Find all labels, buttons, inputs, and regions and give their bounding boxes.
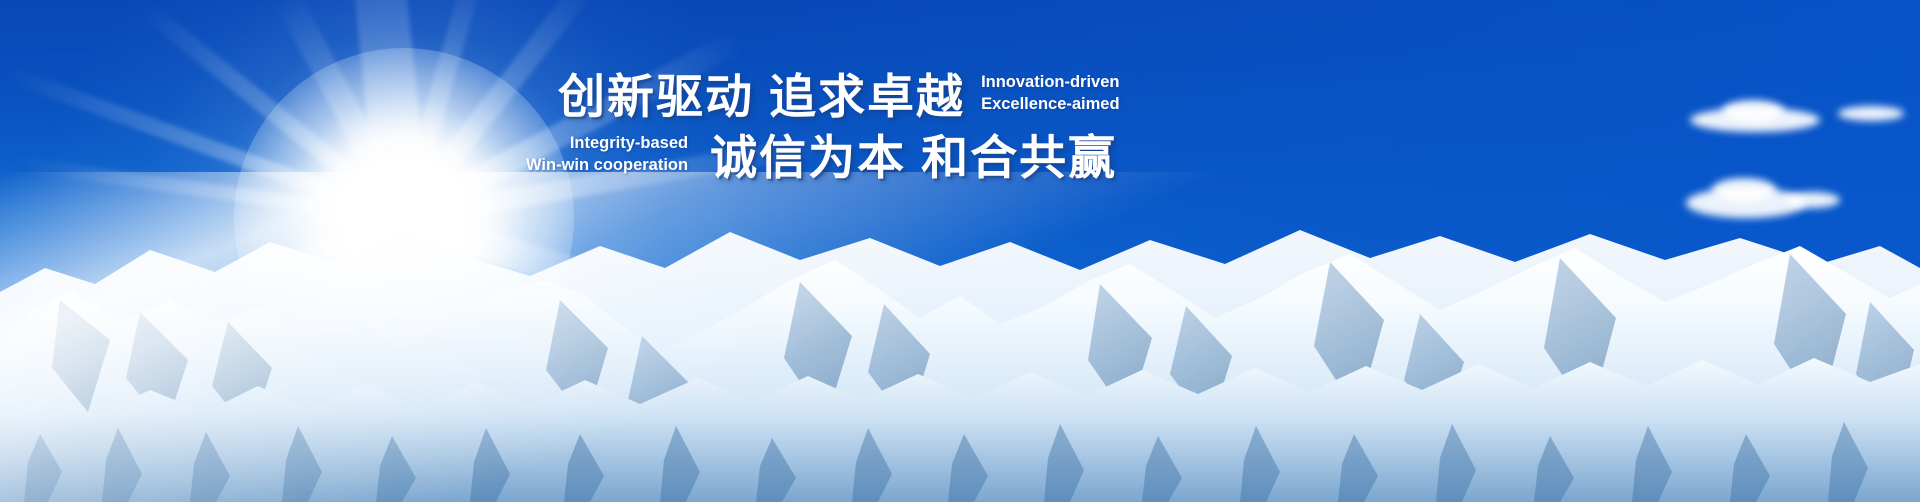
sun-wash-overlay (0, 172, 1920, 502)
cloud-far-right (1838, 106, 1904, 121)
mountain-range (0, 172, 1920, 502)
mountain-svg (0, 172, 1920, 502)
hero-banner: 创新驱动 追求卓越 Innovation-driven Excellence-a… (0, 0, 1920, 502)
cloud-upper-right-puff (1722, 100, 1784, 122)
